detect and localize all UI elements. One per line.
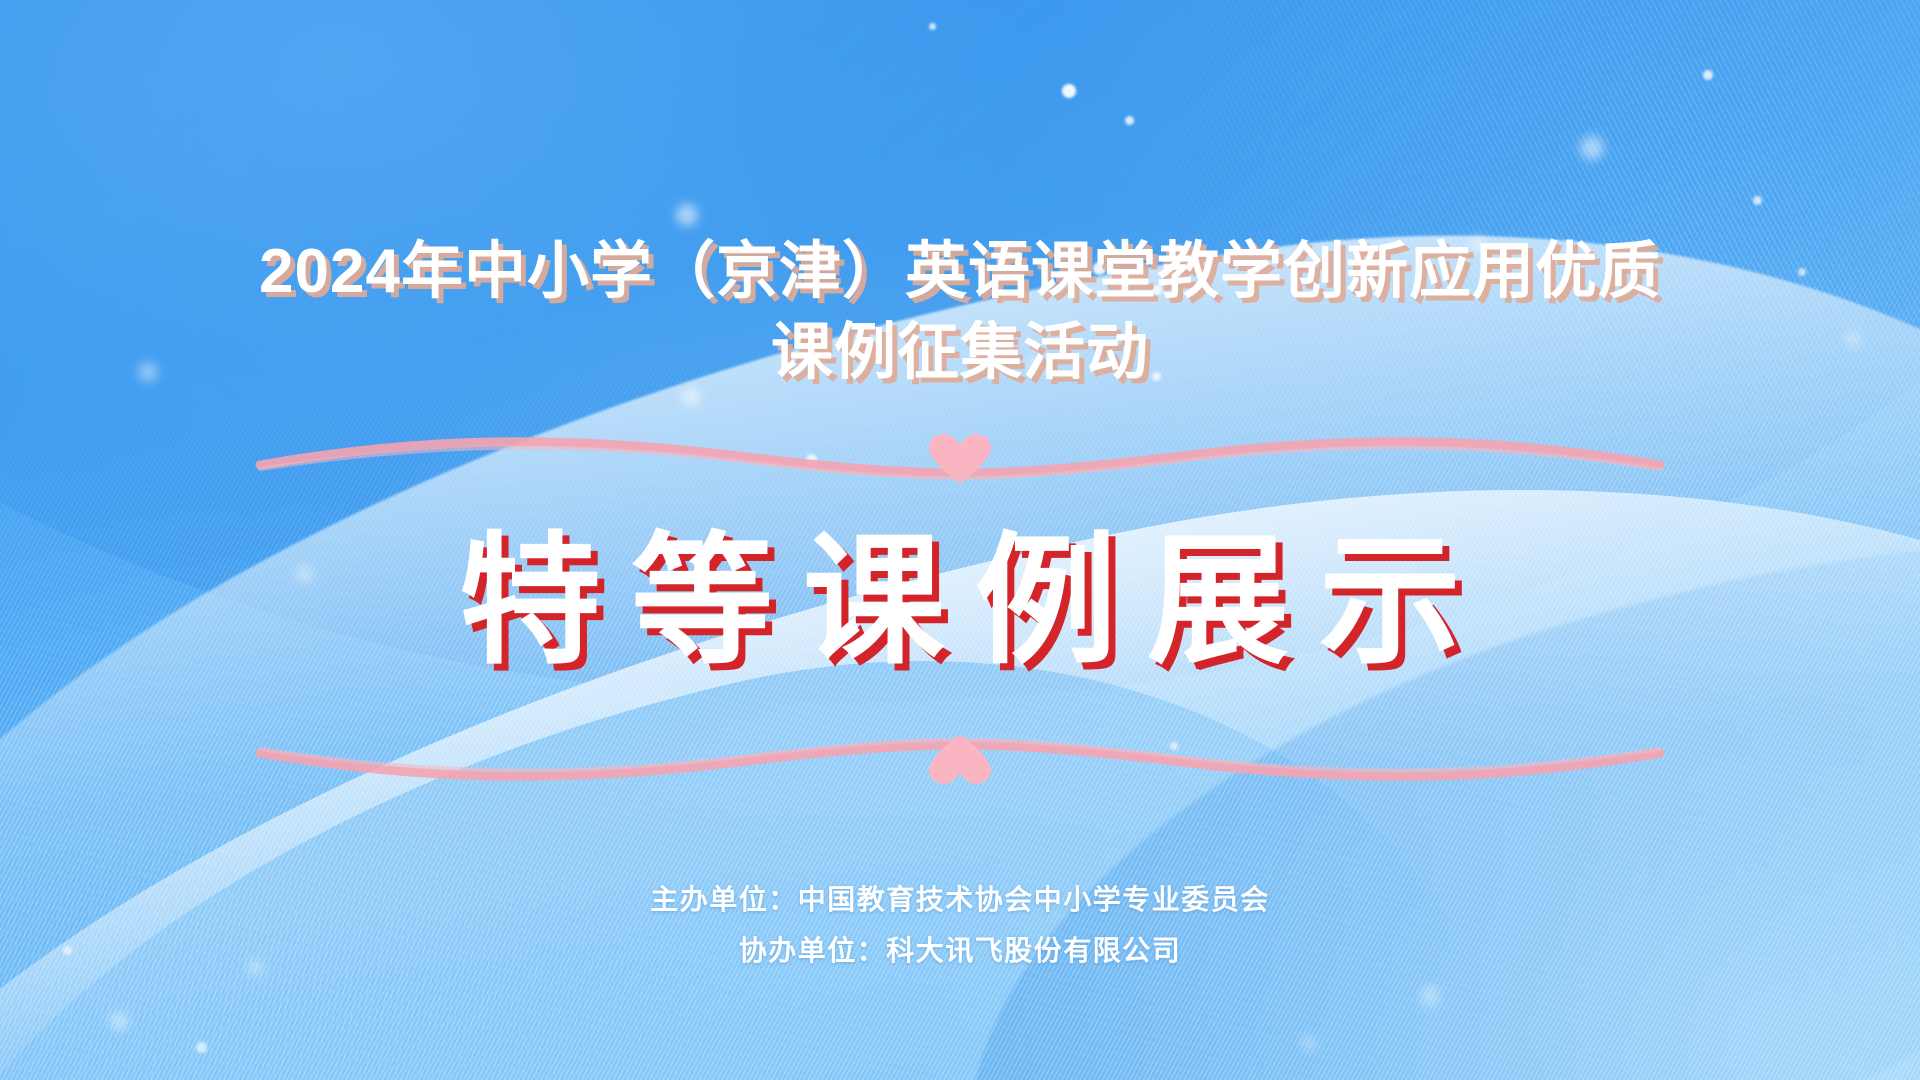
poster-canvas: 2024年中小学（京津）英语课堂教学创新应用优质 课例征集活动 特等课例展示 [0,0,1920,1080]
event-subtitle-line-2: 课例征集活动 [80,313,1840,394]
coorganizer-line: 协办单位：科大讯飞股份有限公司 [650,926,1270,976]
divider-bottom [260,727,1660,797]
poster-content: 2024年中小学（京津）英语课堂教学创新应用优质 课例征集活动 特等课例展示 [0,0,1920,1080]
headline-title: 特等课例展示 [429,531,1491,673]
event-subtitle: 2024年中小学（京津）英语课堂教学创新应用优质 课例征集活动 [80,232,1840,393]
host-organization-line: 主办单位：中国教育技术协会中小学专业委员会 [650,875,1270,925]
organizer-block: 主办单位：中国教育技术协会中小学专业委员会 协办单位：科大讯飞股份有限公司 [650,875,1270,976]
event-subtitle-line-1: 2024年中小学（京津）英语课堂教学创新应用优质 [80,232,1840,313]
divider-top [260,421,1660,491]
